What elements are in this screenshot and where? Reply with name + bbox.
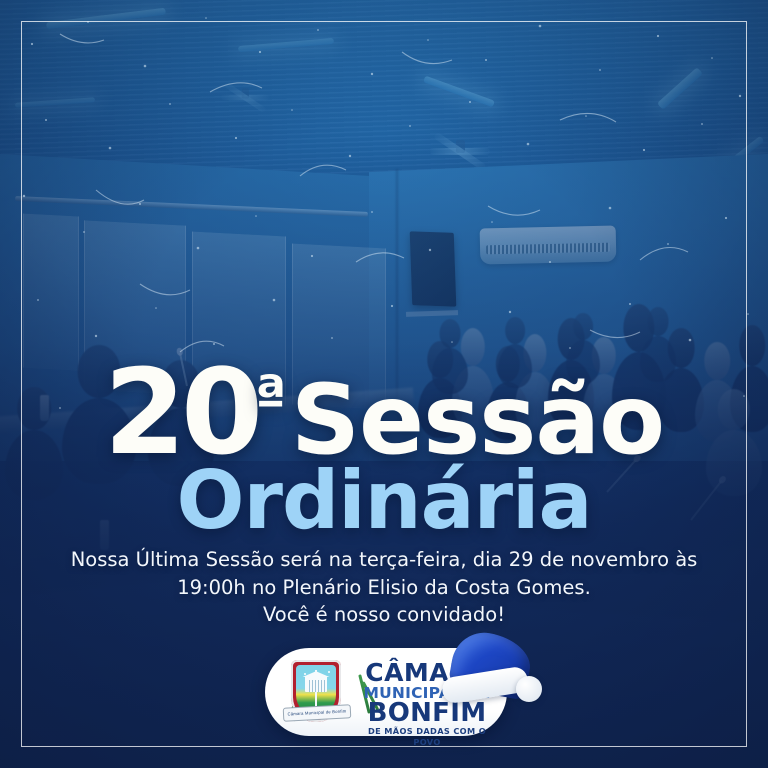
poster-canvas: 20ªSessão Ordinária Nossa Última Sessão … bbox=[0, 0, 768, 768]
body-copy-line-3: Você é nosso convidado! bbox=[60, 601, 708, 629]
santa-hat-icon bbox=[446, 632, 542, 724]
shield-star-icon bbox=[328, 671, 330, 673]
santa-hat-pompom bbox=[516, 676, 542, 702]
body-copy: Nossa Última Sessão será na terça-feira,… bbox=[60, 546, 708, 629]
body-copy-line-1: Nossa Última Sessão será na terça-feira,… bbox=[60, 546, 708, 574]
shield-building-icon bbox=[305, 676, 327, 692]
logo-lockup: Câmara Municipal de Bonfim CÂMARA MUNICI… bbox=[265, 648, 507, 736]
shield-star-icon bbox=[304, 673, 306, 675]
ordinal-marker: ª bbox=[254, 363, 287, 431]
headline: 20ªSessão Ordinária bbox=[0, 358, 768, 541]
coat-of-arms-icon: Câmara Municipal de Bonfim bbox=[291, 660, 341, 722]
body-copy-line-2: 19:00h no Plenário Elisio da Costa Gomes… bbox=[60, 574, 708, 602]
headline-line-1: 20ªSessão bbox=[0, 358, 768, 467]
logo-tagline: DE MÃOS DADAS COM O POVO bbox=[357, 726, 497, 747]
